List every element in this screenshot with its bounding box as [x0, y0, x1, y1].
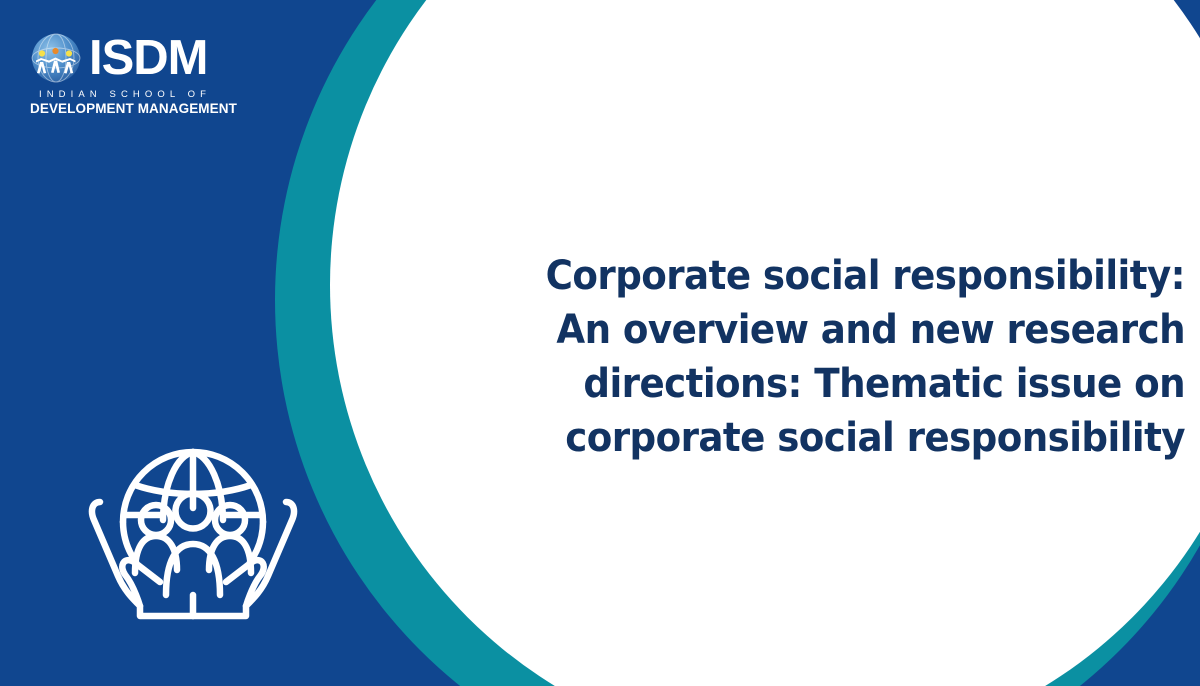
logo-wordmark: ISDM	[89, 34, 208, 83]
logo-primary-row: ISDM	[30, 30, 220, 86]
publication-title: Corporate social responsibility: An over…	[534, 249, 1185, 465]
isdm-logo: ISDM INDIAN SCHOOL OF DEVELOPMENT MANAGE…	[30, 30, 220, 115]
isdm-globe-icon	[30, 32, 82, 84]
hands-holding-globe-icon	[88, 410, 298, 622]
logo-tagline-line2: DEVELOPMENT MANAGEMENT	[30, 101, 220, 116]
publication-banner-card: ISDM INDIAN SCHOOL OF DEVELOPMENT MANAGE…	[0, 0, 1200, 686]
logo-tagline-line1: INDIAN SCHOOL OF	[30, 89, 220, 100]
